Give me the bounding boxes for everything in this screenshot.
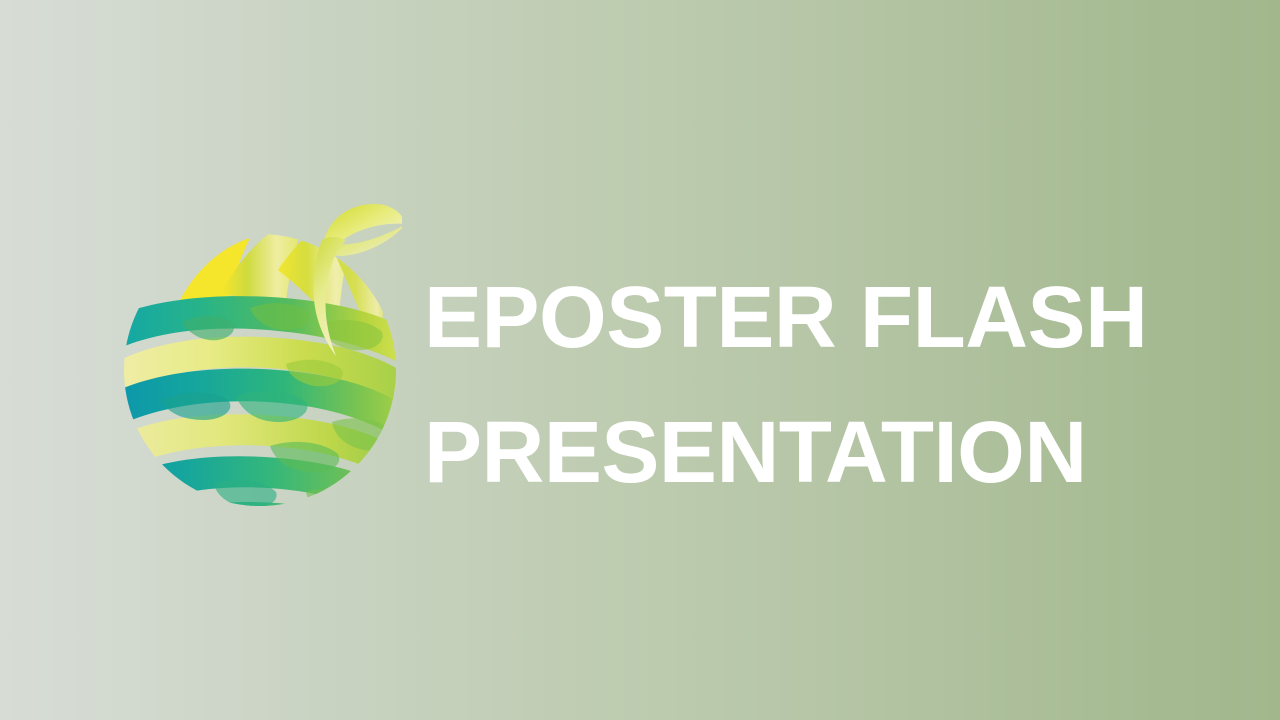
slide-content: EPOSTER FLASH PRESENTATION — [0, 0, 1280, 720]
title-line-1: EPOSTER FLASH — [424, 250, 1224, 385]
title-slide: EPOSTER FLASH PRESENTATION — [0, 0, 1280, 720]
title-line-2: PRESENTATION — [424, 385, 1224, 520]
globe-ribbon-leaf-logo — [118, 196, 402, 516]
slide-title: EPOSTER FLASH PRESENTATION — [424, 250, 1224, 520]
